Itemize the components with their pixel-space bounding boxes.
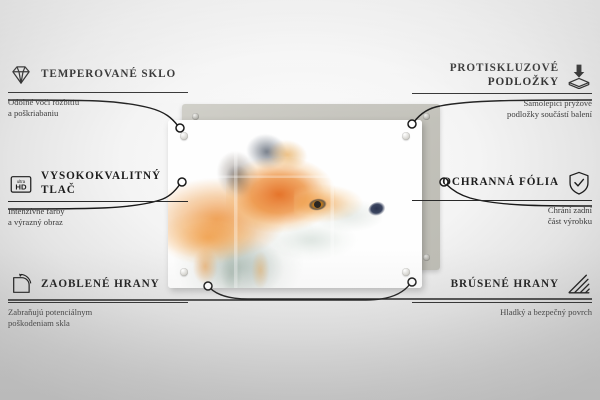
feature-header: BRÚSENÉ HRANY (412, 272, 592, 298)
feature-anti-slip-pads: PROTISKLUZOVÉ PODLOŽKY Samolepící pryžov… (412, 62, 592, 120)
glass-panel (168, 120, 422, 288)
watercolor-drips (186, 248, 306, 288)
feature-description: Hladký a bezpečný povrch (412, 307, 592, 318)
glass-screw-bottom-left (180, 268, 188, 276)
fox-eye-pupil (314, 201, 321, 208)
feature-header: PROTISKLUZOVÉ PODLOŽKY (412, 62, 592, 89)
svg-text:HD: HD (15, 182, 27, 191)
feature-divider (8, 302, 188, 303)
ultra-hd-icon: ultra HD (8, 171, 34, 197)
feature-header: TEMPEROVANÉ SKLO (8, 62, 188, 88)
anti-slip-pad-icon (566, 63, 592, 89)
feature-description: Samolepící pryžové podložky součástí bal… (412, 98, 592, 120)
glass-screw-top-right (402, 132, 410, 140)
feature-description: Chrání zadní část výrobku (412, 205, 592, 227)
feature-divider (412, 302, 592, 303)
brushed-edge-icon (566, 272, 592, 298)
fox-artwork (168, 120, 422, 288)
feature-title: OCHRANNÁ FÓLIA (412, 176, 559, 190)
feature-title: BRÚSENÉ HRANY (412, 278, 559, 292)
glass-screw-bottom-right (402, 268, 410, 276)
feature-protective-film: OCHRANNÁ FÓLIA Chrání zadní část výrobku (412, 170, 592, 227)
feature-title: VYSOKOKVALITNÝ TLAČ (41, 170, 188, 197)
feature-title: PROTISKLUZOVÉ PODLOŽKY (412, 62, 559, 89)
backplate-screw-bottom-right (423, 254, 430, 261)
feature-description: Zabraňujú potenciálnym poškodeniam skla (8, 307, 188, 329)
feature-title: ZAOBLENÉ HRANY (41, 278, 188, 292)
feature-tempered-glass: TEMPEROVANÉ SKLO Odolné voči rozbitiu a … (8, 62, 188, 119)
feature-divider (412, 200, 592, 201)
product-infographic: TEMPEROVANÉ SKLO Odolné voči rozbitiu a … (0, 0, 600, 400)
feature-title: TEMPEROVANÉ SKLO (41, 68, 188, 82)
product-image (168, 104, 440, 292)
rounded-edge-icon (8, 272, 34, 298)
feature-divider (8, 201, 188, 202)
feature-header: ZAOBLENÉ HRANY (8, 272, 188, 298)
diamond-icon (8, 62, 34, 88)
feature-polished-edges: BRÚSENÉ HRANY Hladký a bezpečný povrch (412, 272, 592, 318)
feature-high-quality-print: ultra HD VYSOKOKVALITNÝ TLAČ Intenzívne … (8, 170, 188, 228)
shield-check-icon (566, 170, 592, 196)
feature-divider (8, 92, 188, 93)
glass-screw-top-left (180, 132, 188, 140)
feature-description: Odolné voči rozbitiu a poškriabaniu (8, 97, 188, 119)
backplate-screw-top-left (192, 113, 199, 120)
feature-divider (412, 93, 592, 94)
feature-header: ultra HD VYSOKOKVALITNÝ TLAČ (8, 170, 188, 197)
feature-rounded-edges: ZAOBLENÉ HRANY Zabraňujú potenciálnym po… (8, 272, 188, 329)
feature-description: Intenzívne farby a výrazný obraz (8, 206, 188, 228)
feature-header: OCHRANNÁ FÓLIA (412, 170, 592, 196)
